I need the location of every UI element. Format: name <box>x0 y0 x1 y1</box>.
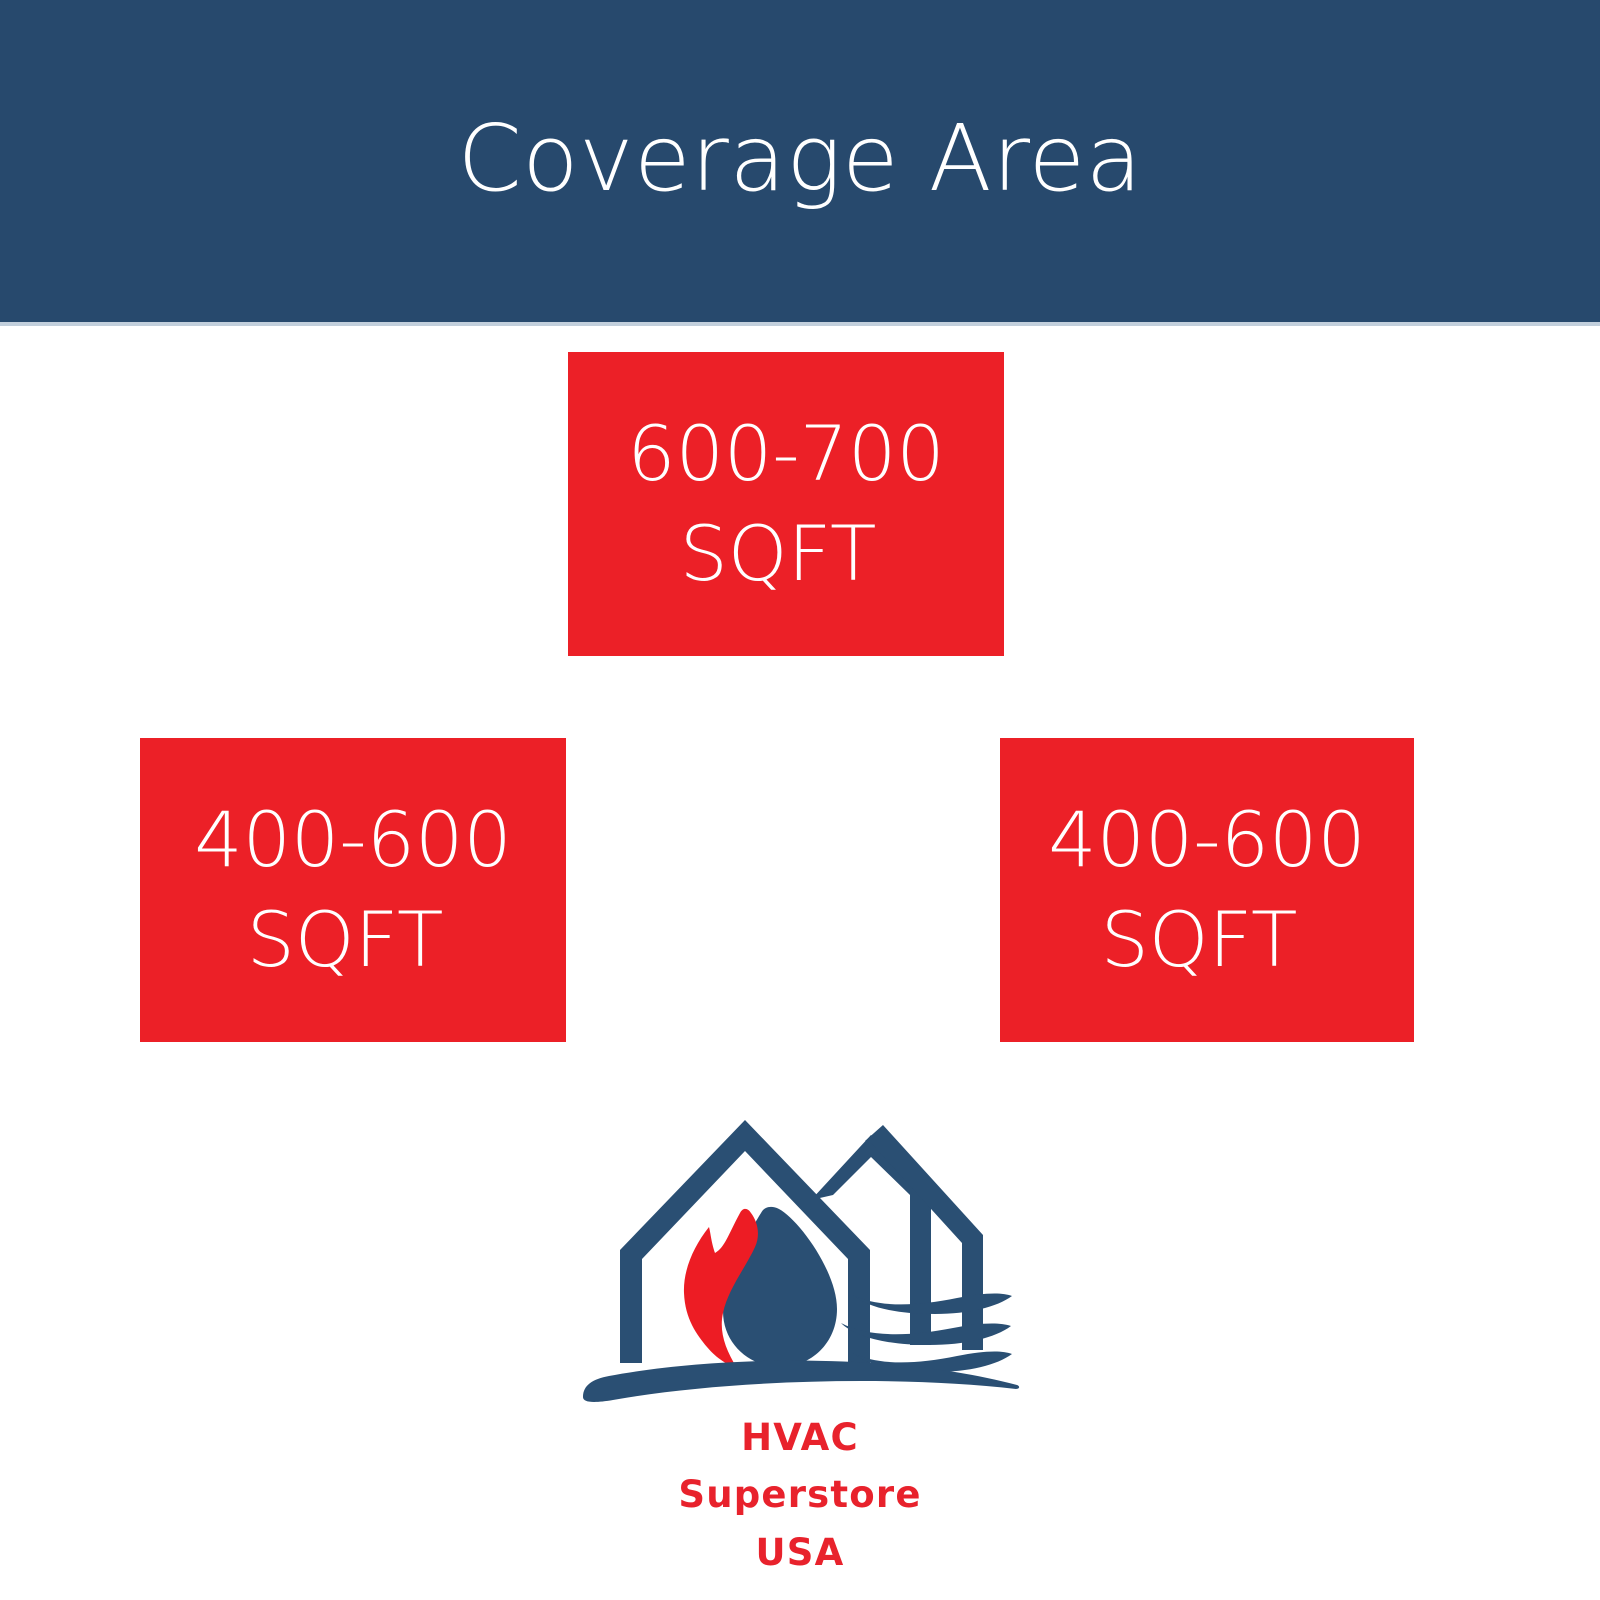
logo-wordmark-line-3: USA <box>678 1524 921 1581</box>
coverage-box-left: 400-600 SQFT <box>140 738 566 1042</box>
coverage-range-value: 400-600 <box>194 790 512 890</box>
logo-wordmark: HVAC Superstore USA <box>678 1409 921 1581</box>
logo-wordmark-line-1: HVAC <box>678 1409 921 1466</box>
coverage-range-value: 600-700 <box>627 404 945 504</box>
coverage-unit-label: SQFT <box>1101 890 1298 990</box>
airflow-line-1-icon <box>853 1294 1012 1314</box>
header-band: Coverage Area <box>0 0 1600 322</box>
brand-logo: HVAC Superstore USA <box>0 1095 1600 1581</box>
header-divider <box>0 322 1600 326</box>
logo-mark-icon <box>565 1095 1035 1405</box>
coverage-range-value: 400-600 <box>1048 790 1366 890</box>
coverage-unit-label: SQFT <box>247 890 444 990</box>
coverage-box-right: 400-600 SQFT <box>1000 738 1414 1042</box>
logo-wordmark-line-2: Superstore <box>678 1466 921 1523</box>
coverage-box-top: 600-700 SQFT <box>568 352 1004 656</box>
coverage-unit-label: SQFT <box>680 504 877 604</box>
page-title: Coverage Area <box>457 113 1142 205</box>
